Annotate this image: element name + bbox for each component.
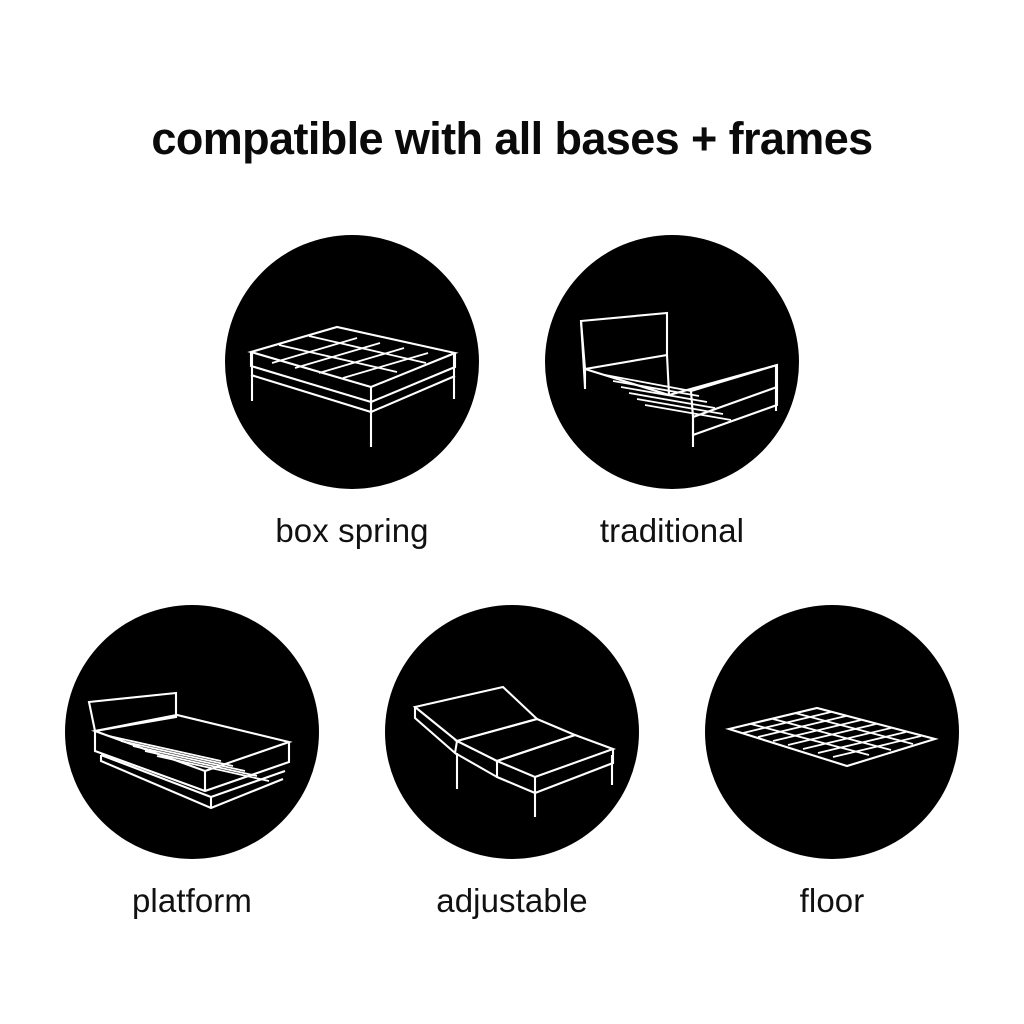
item-label: traditional: [600, 511, 744, 551]
adjustable-disc: [385, 605, 639, 859]
adjustable-base-icon: [385, 605, 639, 859]
floor-disc: [705, 605, 959, 859]
platform-bed-icon: [65, 605, 319, 859]
compatibility-item-platform: platform: [64, 605, 320, 921]
box-spring-disc: [225, 235, 479, 489]
traditional-disc: [545, 235, 799, 489]
item-label: platform: [132, 881, 252, 921]
floor-grid-icon: [705, 605, 959, 859]
compatibility-infographic: compatible with all bases + frames: [0, 0, 1024, 1024]
page-title: compatible with all bases + frames: [0, 113, 1024, 165]
platform-disc: [65, 605, 319, 859]
item-label: floor: [800, 881, 865, 921]
compatibility-item-floor: floor: [704, 605, 960, 921]
compatibility-item-traditional: traditional: [544, 235, 800, 551]
compatibility-item-adjustable: adjustable: [384, 605, 640, 921]
compatibility-item-box-spring: box spring: [224, 235, 480, 551]
item-label: box spring: [275, 511, 428, 551]
box-spring-icon: [225, 235, 479, 489]
compatibility-row-bottom: platform: [0, 605, 1024, 921]
item-label: adjustable: [436, 881, 587, 921]
compatibility-row-top: box spring: [0, 235, 1024, 551]
traditional-bed-frame-icon: [545, 235, 799, 489]
